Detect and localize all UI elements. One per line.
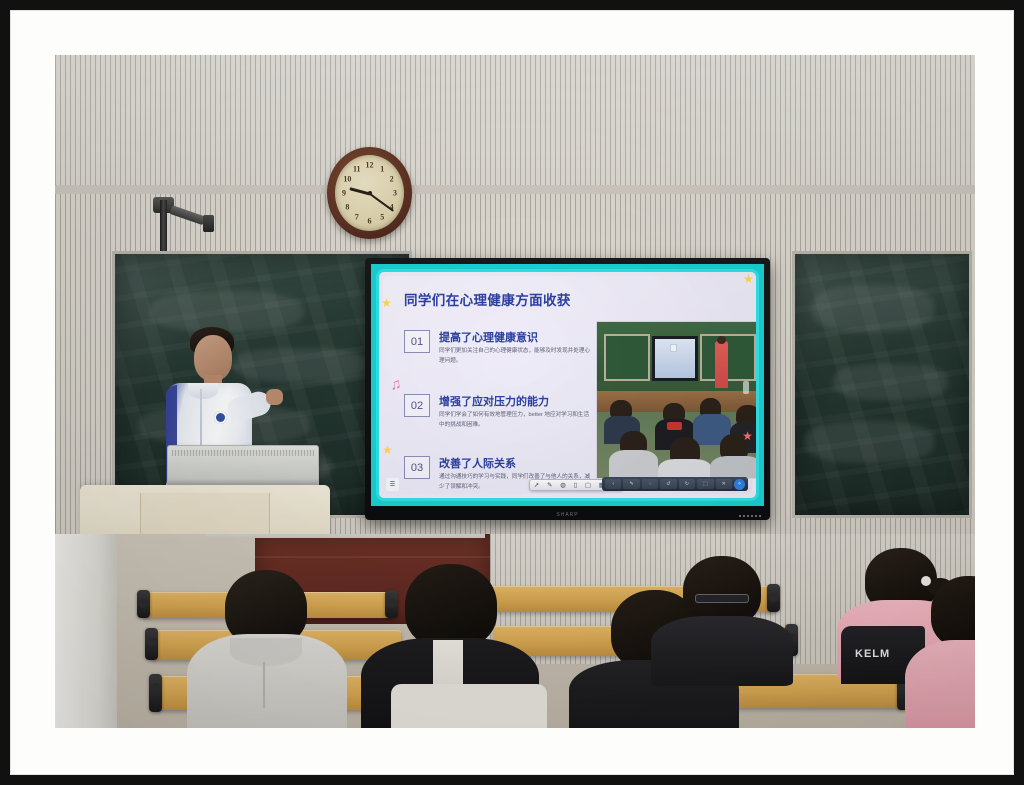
bullet-body: 同学们学会了如何有效地管理压力，better 地应对学习和生活中的挑战和困难。 [439,410,591,431]
pen-icon[interactable]: ✎ [623,479,639,489]
clock-numeral: 7 [355,213,359,222]
bench-armrest [767,584,780,612]
bullet-heading: 改善了人际关系 [439,455,516,471]
slide-embedded-photo [596,321,759,479]
clear-icon[interactable]: ✕ [716,479,732,489]
interactive-flat-panel[interactable]: 同学们在心理健康方面收获 01 提高了心理健康意识 同学们更加关注自己的心理健康… [365,258,770,520]
annotation-tool-bar[interactable]: ‹ ✎ ◌ ↺ ↻ ⬚ ✕ ✧ [602,477,748,491]
clock-hour-hand [349,188,370,196]
laptop-hinge [172,450,314,456]
display-indicator-leds [739,515,761,517]
pen-icon[interactable]: ✎ [547,481,552,489]
eraser-icon[interactable]: ▯ [574,481,578,489]
clock-numeral: 9 [342,189,346,198]
presenter-laptop [167,445,319,489]
eyeglasses-icon [695,594,749,603]
classroom-photo: 12 1 2 3 4 5 6 7 8 9 10 11 [55,55,975,728]
slide-canvas: 同学们在心理健康方面收获 01 提高了心理健康意识 同学们更加关注自己的心理健康… [383,276,752,494]
display-brand-label: SHARP [556,512,578,518]
photo-teacher [715,341,728,388]
clock-face: 12 1 2 3 4 5 6 7 8 9 10 11 [335,155,404,231]
star-decoration: ★ [381,298,392,309]
bullet-heading: 增强了应对压力的能力 [439,393,549,409]
school-crest-icon [214,411,227,424]
hair-tie [921,576,931,586]
clock-numeral: 3 [393,189,397,198]
undo-icon[interactable]: ↺ [660,479,676,489]
clock-numeral: 12 [366,160,374,169]
bullet-body: 同学们更加关注自己的心理健康状态，能够及时发现并处理心理问题。 [439,346,591,367]
side-handle[interactable] [743,381,749,394]
clock-numeral: 6 [368,217,372,226]
stage-desk [205,534,485,538]
back-icon[interactable]: ‹ [605,479,621,489]
assistant-button[interactable]: ✧ [734,479,745,490]
bench-armrest [149,674,162,712]
eraser-icon[interactable]: ◌ [642,479,658,489]
slide-title: 同学们在心理健康方面收获 [404,289,571,309]
photo-frame: 12 1 2 3 4 5 6 7 8 9 10 11 [0,0,1024,785]
chalkboard-right [792,251,972,518]
redo-icon[interactable]: ↻ [679,479,695,489]
star-decoration: ★ [742,431,753,442]
bullet-number: 02 [404,394,430,417]
cursor-icon[interactable]: ➚ [534,481,539,489]
left-pillar [55,534,117,728]
presentation-slide[interactable]: 同学们在心理健康方面收获 01 提高了心理健康意识 同学们更加关注自己的心理健康… [376,269,759,501]
display-screen[interactable]: 同学们在心理健康方面收获 01 提高了心理健康意识 同学们更加关注自己的心理健康… [371,264,764,506]
bench-armrest [385,590,398,618]
clock-numeral: 5 [380,213,384,222]
clock-numeral: 1 [380,164,384,173]
projector-arm-tip [203,215,214,232]
presenter-collar [188,383,218,399]
shape-icon[interactable]: ▢ [585,481,591,489]
bullet-heading: 提高了心理健康意识 [439,329,538,345]
star-decoration: ★ [382,445,393,456]
clock-numeral: 11 [353,164,361,173]
clock-numeral: 8 [345,202,349,211]
presenter-hand [266,389,283,405]
select-icon[interactable]: ⬚ [697,479,713,489]
audience-area: KELM [55,534,975,728]
clock-center-pin [368,191,372,195]
highlighter-icon[interactable]: ◍ [560,481,566,489]
vest-brand-text: KELM [855,648,890,660]
clock-numeral: 2 [390,175,394,184]
bench-armrest [145,628,158,660]
photo-mat: 12 1 2 3 4 5 6 7 8 9 10 11 [10,10,1014,775]
menu-icon[interactable]: ☰ [386,478,399,491]
bench-armrest [137,590,150,618]
bullet-number: 01 [404,330,430,353]
bullet-number: 03 [404,456,430,479]
music-note-decoration: ♫ [389,375,403,394]
wall-clock: 12 1 2 3 4 5 6 7 8 9 10 11 [327,147,412,239]
star-decoration: ★ [743,274,754,285]
clock-numeral: 10 [343,175,351,184]
ceiling-panel [55,55,975,185]
